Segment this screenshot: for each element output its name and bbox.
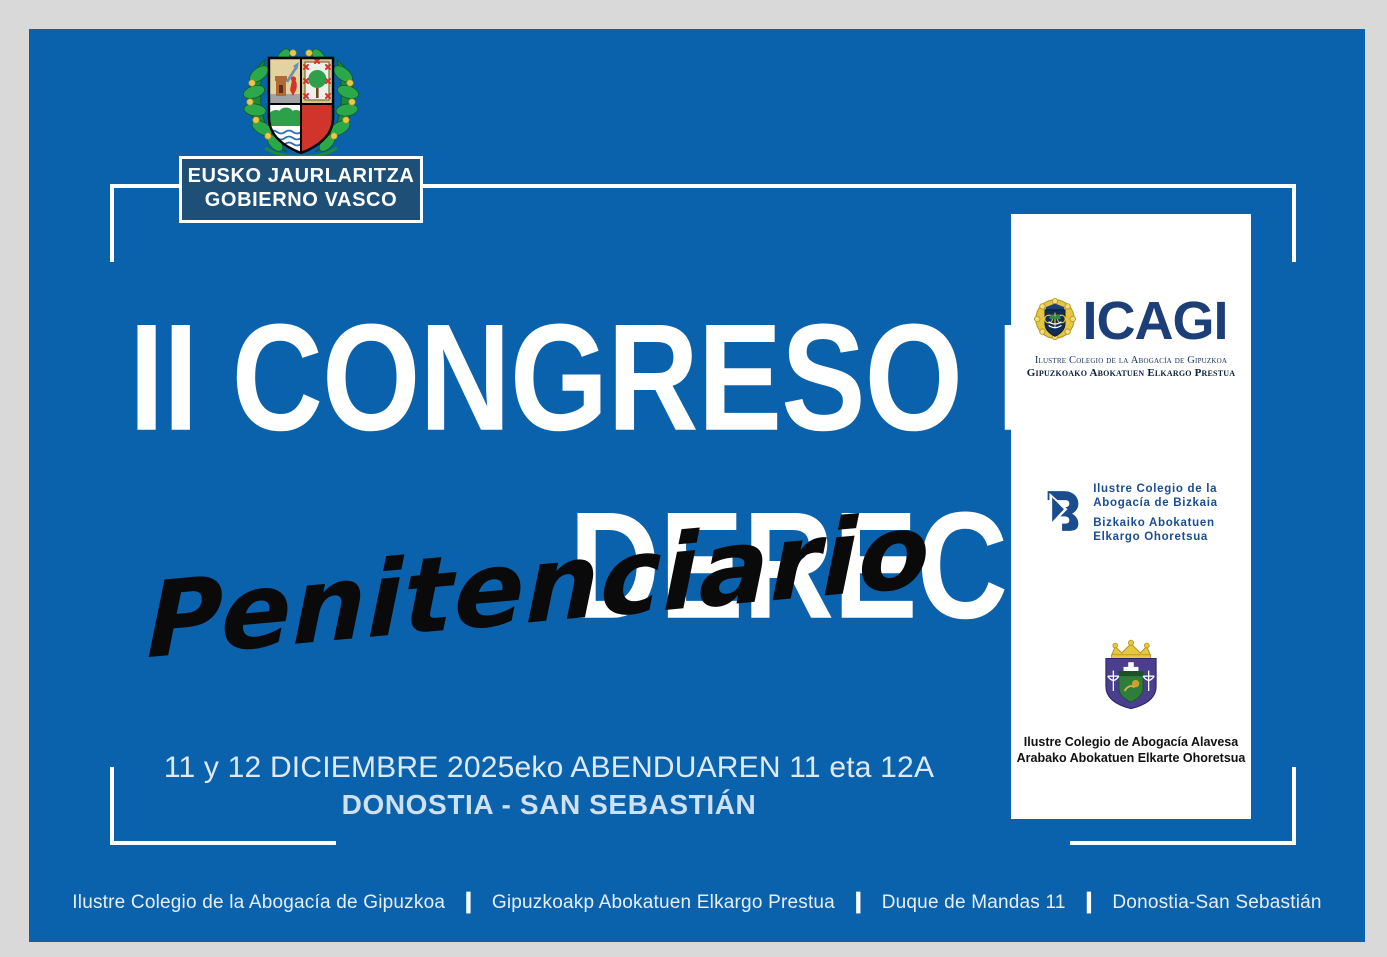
footer-item-2: Duque de Mandas 11: [882, 892, 1066, 913]
footer-separator-0: ❙: [460, 890, 478, 913]
alava-crest-icon: [1091, 704, 1171, 721]
footer-strip: Ilustre Colegio de la Abogacía de Gipuzk…: [29, 889, 1365, 914]
footer-separator-2: ❙: [1080, 890, 1098, 913]
footer-item-0: Ilustre Colegio de la Abogacía de Gipuzk…: [72, 892, 445, 913]
poster-canvas: EUSKO JAURLARITZA GOBIERNO VASCO II CONG…: [29, 29, 1365, 942]
footer-item-3: Donostia-San Sebastián: [1112, 892, 1321, 913]
footer-item-1: Gipuzkoakp Abokatuen Elkargo Prestua: [492, 892, 835, 913]
sponsor-icagi: ICAGI Ilustre Colegio de la Abogacía de …: [1011, 292, 1251, 379]
icagi-subtitle-es: Ilustre Colegio de la Abogacía de Gipuzk…: [1011, 355, 1251, 366]
alavesa-eu-line: Arabako Abokatuen Elkarte Ohoretsua: [1011, 750, 1251, 766]
event-city-line: DONOSTIA - SAN SEBASTIÁN: [109, 789, 989, 821]
icagi-wordmark: ICAGI: [1082, 294, 1227, 348]
sponsor-panel: ICAGI Ilustre Colegio de la Abogacía de …: [1011, 214, 1251, 819]
icagi-crest-icon: [1034, 298, 1076, 345]
sponsor-bizkaia: Ilustre Colegio de la Abogacía de Bizkai…: [1011, 482, 1251, 544]
bizkaia-es-line2: Abogacía de Bizkaia: [1093, 496, 1218, 510]
event-date-line: 11 y 12 DICIEMBRE 2025eko ABENDUAREN 11 …: [109, 751, 989, 785]
alavesa-text-block: Ilustre Colegio de Abogacía Alavesa Arab…: [1011, 734, 1251, 767]
icagi-subtitle-eu: Gipuzkoako Abokatuen Elkargo Prestua: [1011, 367, 1251, 379]
sponsor-alavesa: Ilustre Colegio de Abogacía Alavesa Arab…: [1011, 639, 1251, 767]
bizkaia-monogram-icon: [1044, 489, 1082, 538]
bizkaia-text-block: Ilustre Colegio de la Abogacía de Bizkai…: [1093, 482, 1218, 544]
bizkaia-eu-line2: Elkargo Ohoretsua: [1093, 530, 1218, 544]
alavesa-es-line: Ilustre Colegio de Abogacía Alavesa: [1011, 734, 1251, 750]
footer-separator-1: ❙: [849, 890, 867, 913]
bizkaia-es-line1: Ilustre Colegio de la: [1093, 482, 1218, 496]
bizkaia-eu-line1: Bizkaiko Abokatuen: [1093, 516, 1218, 530]
